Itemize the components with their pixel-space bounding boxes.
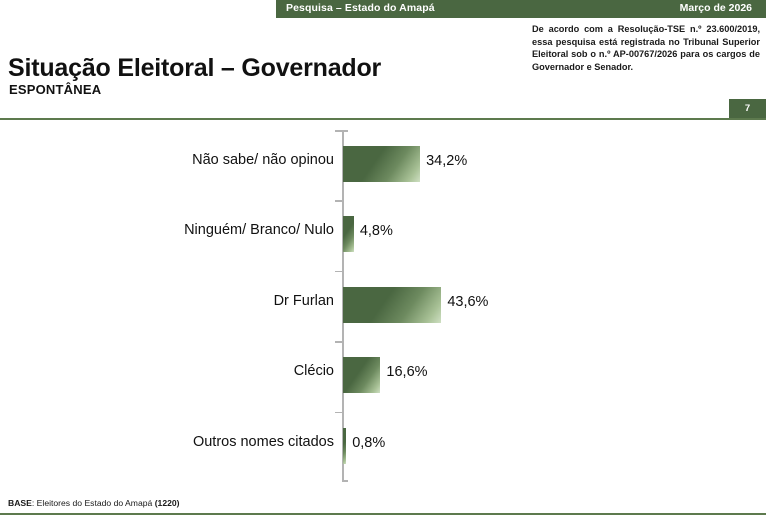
header-band-date: Março de 2026	[680, 2, 752, 14]
axis-tick	[335, 130, 342, 132]
chart-row: Dr Furlan43,6%	[0, 271, 766, 341]
bar-value-label: 4,8%	[360, 223, 393, 239]
chart-row: Clécio16,6%	[0, 341, 766, 411]
bar-3	[343, 287, 441, 323]
page-subtitle: ESPONTÂNEA	[9, 82, 101, 97]
legal-notice-text: De acordo com a Resolução-TSE n.º 23.600…	[532, 23, 760, 74]
base-note: BASE: Eleitores do Estado do Amapá (1220…	[8, 498, 180, 508]
category-label: Não sabe/ não opinou	[40, 152, 334, 168]
axis-tick	[335, 271, 342, 273]
chart-row: Ninguém/ Branco/ Nulo4,8%	[0, 200, 766, 270]
category-label: Dr Furlan	[40, 293, 334, 309]
bar-2	[343, 216, 354, 252]
category-label: Ninguém/ Branco/ Nulo	[40, 222, 334, 238]
chart-row: Outros nomes citados0,8%	[0, 412, 766, 482]
header-band: Pesquisa – Estado do Amapá Março de 2026	[276, 0, 766, 18]
footer-divider	[0, 513, 766, 515]
base-count: (1220)	[155, 498, 180, 508]
header-divider	[0, 118, 766, 120]
page-title: Situação Eleitoral – Governador	[8, 54, 381, 83]
bar-1	[343, 146, 420, 182]
slide-canvas: Pesquisa – Estado do Amapá Março de 2026…	[0, 0, 766, 518]
bar-5	[343, 428, 346, 464]
page-number-value: 7	[729, 99, 766, 118]
chart-row: Não sabe/ não opinou34,2%	[0, 130, 766, 200]
bar-value-label: 0,8%	[352, 435, 385, 451]
bar-value-label: 16,6%	[386, 364, 427, 380]
axis-tick	[335, 341, 342, 343]
bar-value-label: 43,6%	[447, 294, 488, 310]
bar-chart: Não sabe/ não opinou34,2%Ninguém/ Branco…	[0, 126, 766, 490]
base-label: BASE	[8, 498, 32, 508]
bar-4	[343, 357, 380, 393]
header-band-title: Pesquisa – Estado do Amapá	[286, 2, 435, 14]
axis-tick	[335, 200, 342, 202]
category-label: Outros nomes citados	[40, 434, 334, 450]
bar-value-label: 34,2%	[426, 153, 467, 169]
base-text: Eleitores do Estado do Amapá	[37, 498, 155, 508]
category-label: Clécio	[40, 363, 334, 379]
axis-tick	[335, 412, 342, 414]
page-number-badge: 7	[729, 99, 766, 118]
